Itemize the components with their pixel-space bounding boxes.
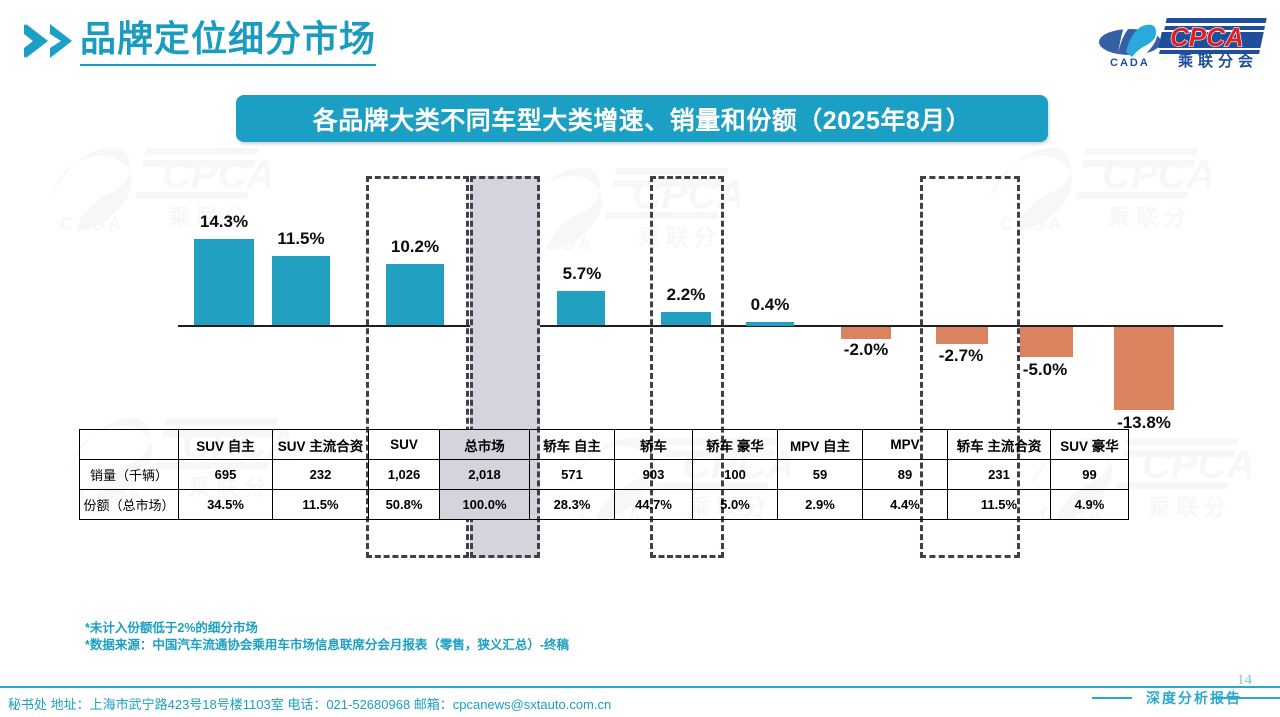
page-number: 14 xyxy=(1237,672,1252,689)
table-col-header: 总市场 xyxy=(440,430,530,460)
table-cell: 5.0% xyxy=(693,490,778,520)
bar-mpv-zizhu xyxy=(841,327,891,339)
svg-text:CPCA: CPCA xyxy=(1170,22,1244,52)
table-cell: 59 xyxy=(778,460,863,490)
table-cell: 11.5% xyxy=(273,490,369,520)
svg-text:乘联分会: 乘联分会 xyxy=(1177,52,1258,70)
table-cell: 903 xyxy=(615,460,693,490)
table-cell: 4.4% xyxy=(863,490,948,520)
table-col-header: SUV 豪华 xyxy=(1051,430,1129,460)
chart-title-text: 各品牌大类不同车型大类增速、销量和份额（2025年8月） xyxy=(313,101,972,137)
table-corner-cell xyxy=(80,430,179,460)
footnote-line-2: *数据来源：中国汽车流通协会乘用车市场信息联席分会月报表（零售，狭义汇总）-终稿 xyxy=(85,637,569,654)
footer-accent-line-left xyxy=(1092,697,1132,699)
table-cell: 34.5% xyxy=(179,490,273,520)
table-header-row: SUV 自主 SUV 主流合资 SUV 总市场 轿车 自主 轿车 轿车 豪华 M… xyxy=(80,430,1129,460)
bar-label-suv-joint-venture: 11.5% xyxy=(261,229,341,249)
table-col-header: 轿车 豪华 xyxy=(693,430,778,460)
table-cell: 28.3% xyxy=(530,490,615,520)
table-row: 销量（千辆） 695 232 1,026 2,018 571 903 100 5… xyxy=(80,460,1129,490)
table-row-label: 份额（总市场） xyxy=(80,490,179,520)
table-cell: 1,026 xyxy=(369,460,440,490)
table-cell: 89 xyxy=(863,460,948,490)
bar-sedan-zizhu xyxy=(557,291,605,325)
svg-text:CPCA: CPCA xyxy=(1142,443,1250,487)
footnotes: *未计入份额低于2%的细分市场 *数据来源：中国汽车流通协会乘用车市场信息联席分… xyxy=(85,620,569,654)
table-cell: 2,018 xyxy=(440,460,530,490)
table-cell: 100.0% xyxy=(440,490,530,520)
bar-label-sedan-zizhu: 5.7% xyxy=(542,264,622,284)
table-cell: 11.5% xyxy=(948,490,1051,520)
table-col-header: SUV 自主 xyxy=(179,430,273,460)
bar-label-suv-zizhu: 14.3% xyxy=(184,212,264,232)
page-title: 品牌定位细分市场 xyxy=(80,16,376,66)
table-cell: 232 xyxy=(273,460,369,490)
chart-title-banner: 各品牌大类不同车型大类增速、销量和份额（2025年8月） xyxy=(236,95,1048,142)
table-col-header: 轿车 xyxy=(615,430,693,460)
slide-canvas: CADA CPCA 乘联分 CADA xyxy=(0,0,1280,717)
table-cell: 2.9% xyxy=(778,490,863,520)
svg-text:乘联分: 乘联分 xyxy=(1147,495,1232,520)
table-cell: 695 xyxy=(179,460,273,490)
table-col-header: MPV 自主 xyxy=(778,430,863,460)
bar-suv-zizhu xyxy=(194,239,254,325)
double-chevron-right-icon xyxy=(24,22,82,65)
table-cell: 571 xyxy=(530,460,615,490)
table-row: 份额（总市场） 34.5% 11.5% 50.8% 100.0% 28.3% 4… xyxy=(80,490,1129,520)
table-cell: 99 xyxy=(1051,460,1129,490)
table-col-header: 轿车 主流合资 xyxy=(948,430,1051,460)
bar-label-mpv-zizhu: -2.0% xyxy=(826,340,906,360)
table-col-header: MPV xyxy=(863,430,948,460)
table-col-header: SUV 主流合资 xyxy=(273,430,369,460)
bar-suv-joint-venture xyxy=(272,256,330,325)
table-cell: 100 xyxy=(693,460,778,490)
data-table: SUV 自主 SUV 主流合资 SUV 总市场 轿车 自主 轿车 轿车 豪华 M… xyxy=(79,429,1129,520)
table-cell: 44.7% xyxy=(615,490,693,520)
bar-sedan-joint-venture xyxy=(1020,327,1073,357)
table-col-header: SUV xyxy=(369,430,440,460)
cpca-logo: CADA CPCA 乘联分会 xyxy=(1096,12,1272,70)
table-cell: 50.8% xyxy=(369,490,440,520)
footer-accent-line-right xyxy=(1212,697,1280,699)
table-cell: 231 xyxy=(948,460,1051,490)
bar-suv-luxury xyxy=(1114,327,1174,410)
svg-text:CADA: CADA xyxy=(1110,57,1150,69)
bar-label-sedan-luxury: 0.4% xyxy=(730,295,810,315)
footer-divider xyxy=(0,686,1280,688)
table-col-header: 轿车 自主 xyxy=(530,430,615,460)
footer-contact: 秘书处 地址：上海市武宁路423号18号楼1103室 电话：021-526809… xyxy=(8,694,611,713)
bar-chart: 14.3% 11.5% 10.2% 5.9% 5.7% 2.2% 0.4% -2… xyxy=(0,150,1280,430)
footnote-line-1: *未计入份额低于2%的细分市场 xyxy=(85,620,569,637)
table-cell: 4.9% xyxy=(1051,490,1129,520)
bar-sedan-luxury xyxy=(746,322,794,326)
table-row-label: 销量（千辆） xyxy=(80,460,179,490)
